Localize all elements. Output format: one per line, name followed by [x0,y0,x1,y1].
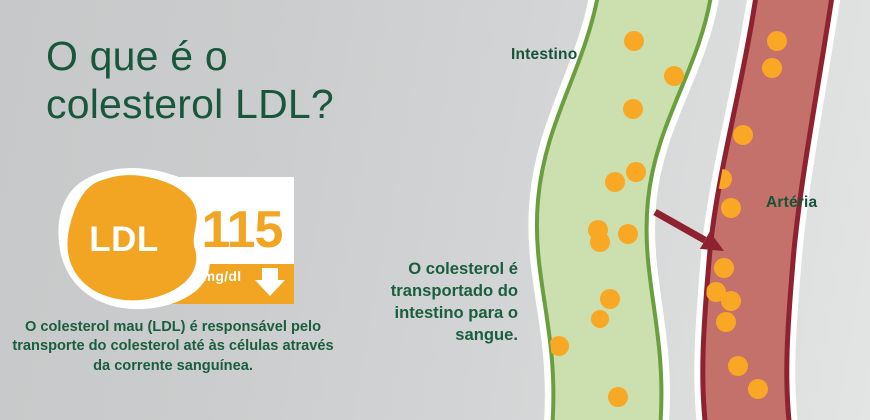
label-artery: Artéria [766,194,817,212]
cholesterol-particle [623,99,643,119]
cholesterol-particle [721,291,741,311]
infographic-canvas: O que é o colesterol LDL? LDL 115 mg/dl … [0,0,870,420]
cholesterol-particle [767,31,787,51]
arrow-shaft [655,212,705,240]
cholesterol-particle [762,58,782,78]
cholesterol-particle [728,356,748,376]
cholesterol-particle [618,224,638,244]
cholesterol-particle [549,336,569,356]
cholesterol-particle [721,198,741,218]
cholesterol-particle [600,289,620,309]
cholesterol-particle [590,232,610,252]
cholesterol-particle [624,31,644,51]
cholesterol-particle [714,258,734,278]
cholesterol-particle [608,387,628,407]
cholesterol-transport-diagram [0,0,870,420]
cholesterol-particle [626,162,646,182]
cholesterol-particle [664,66,684,86]
cholesterol-particle [733,125,753,145]
cholesterol-particle [591,310,609,328]
cholesterol-particle [716,312,736,332]
cholesterol-particle [748,379,768,399]
label-intestine: Intestino [511,46,577,64]
cholesterol-particle [605,172,625,192]
